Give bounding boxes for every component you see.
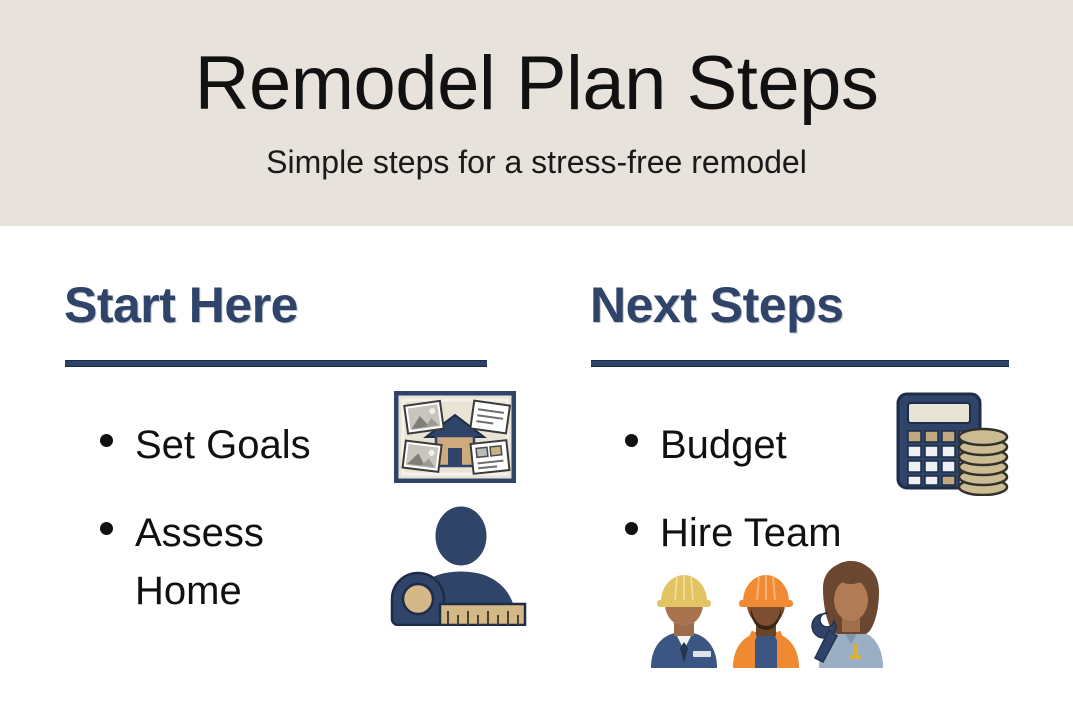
- list-item-label: Hire Team: [660, 504, 842, 562]
- list-item-label: Assess Home: [135, 504, 345, 620]
- column-next-steps: Next Steps Budget Hire Team: [590, 226, 1060, 720]
- header-band: Remodel Plan Steps Simple steps for a st…: [0, 0, 1073, 226]
- page-subtitle: Simple steps for a stress-free remodel: [0, 143, 1073, 181]
- bullet-dot-icon: [100, 434, 113, 447]
- list-item-label: Set Goals: [135, 416, 311, 474]
- column-rule-start-here: [65, 360, 487, 367]
- list-item-set-goals[interactable]: Set Goals: [100, 416, 311, 474]
- list-item-label: Budget: [660, 416, 787, 474]
- columns-container: Start Here Set Goals Assess Home: [0, 226, 1073, 720]
- column-start-here: Start Here Set Goals Assess Home: [64, 226, 534, 720]
- worker-technician: [812, 561, 883, 668]
- bullet-dot-icon: [625, 434, 638, 447]
- bullet-dot-icon: [625, 522, 638, 535]
- page-title: Remodel Plan Steps: [0, 46, 1073, 122]
- list-item-hire-team[interactable]: Hire Team: [625, 504, 842, 562]
- person-tape-measure-icon: [382, 504, 527, 626]
- mood-board-icon: [394, 391, 516, 483]
- calculator-coins-icon: [895, 391, 1010, 496]
- worker-builder: [733, 575, 799, 668]
- list-item-assess-home[interactable]: Assess Home: [100, 504, 345, 620]
- list-item-budget[interactable]: Budget: [625, 416, 787, 474]
- worker-supervisor: [651, 575, 717, 668]
- column-rule-next-steps: [591, 360, 1009, 367]
- construction-workers-icon: [645, 558, 885, 668]
- bullet-dot-icon: [100, 522, 113, 535]
- column-heading-next-steps: Next Steps: [590, 280, 843, 330]
- column-heading-start-here: Start Here: [64, 280, 298, 330]
